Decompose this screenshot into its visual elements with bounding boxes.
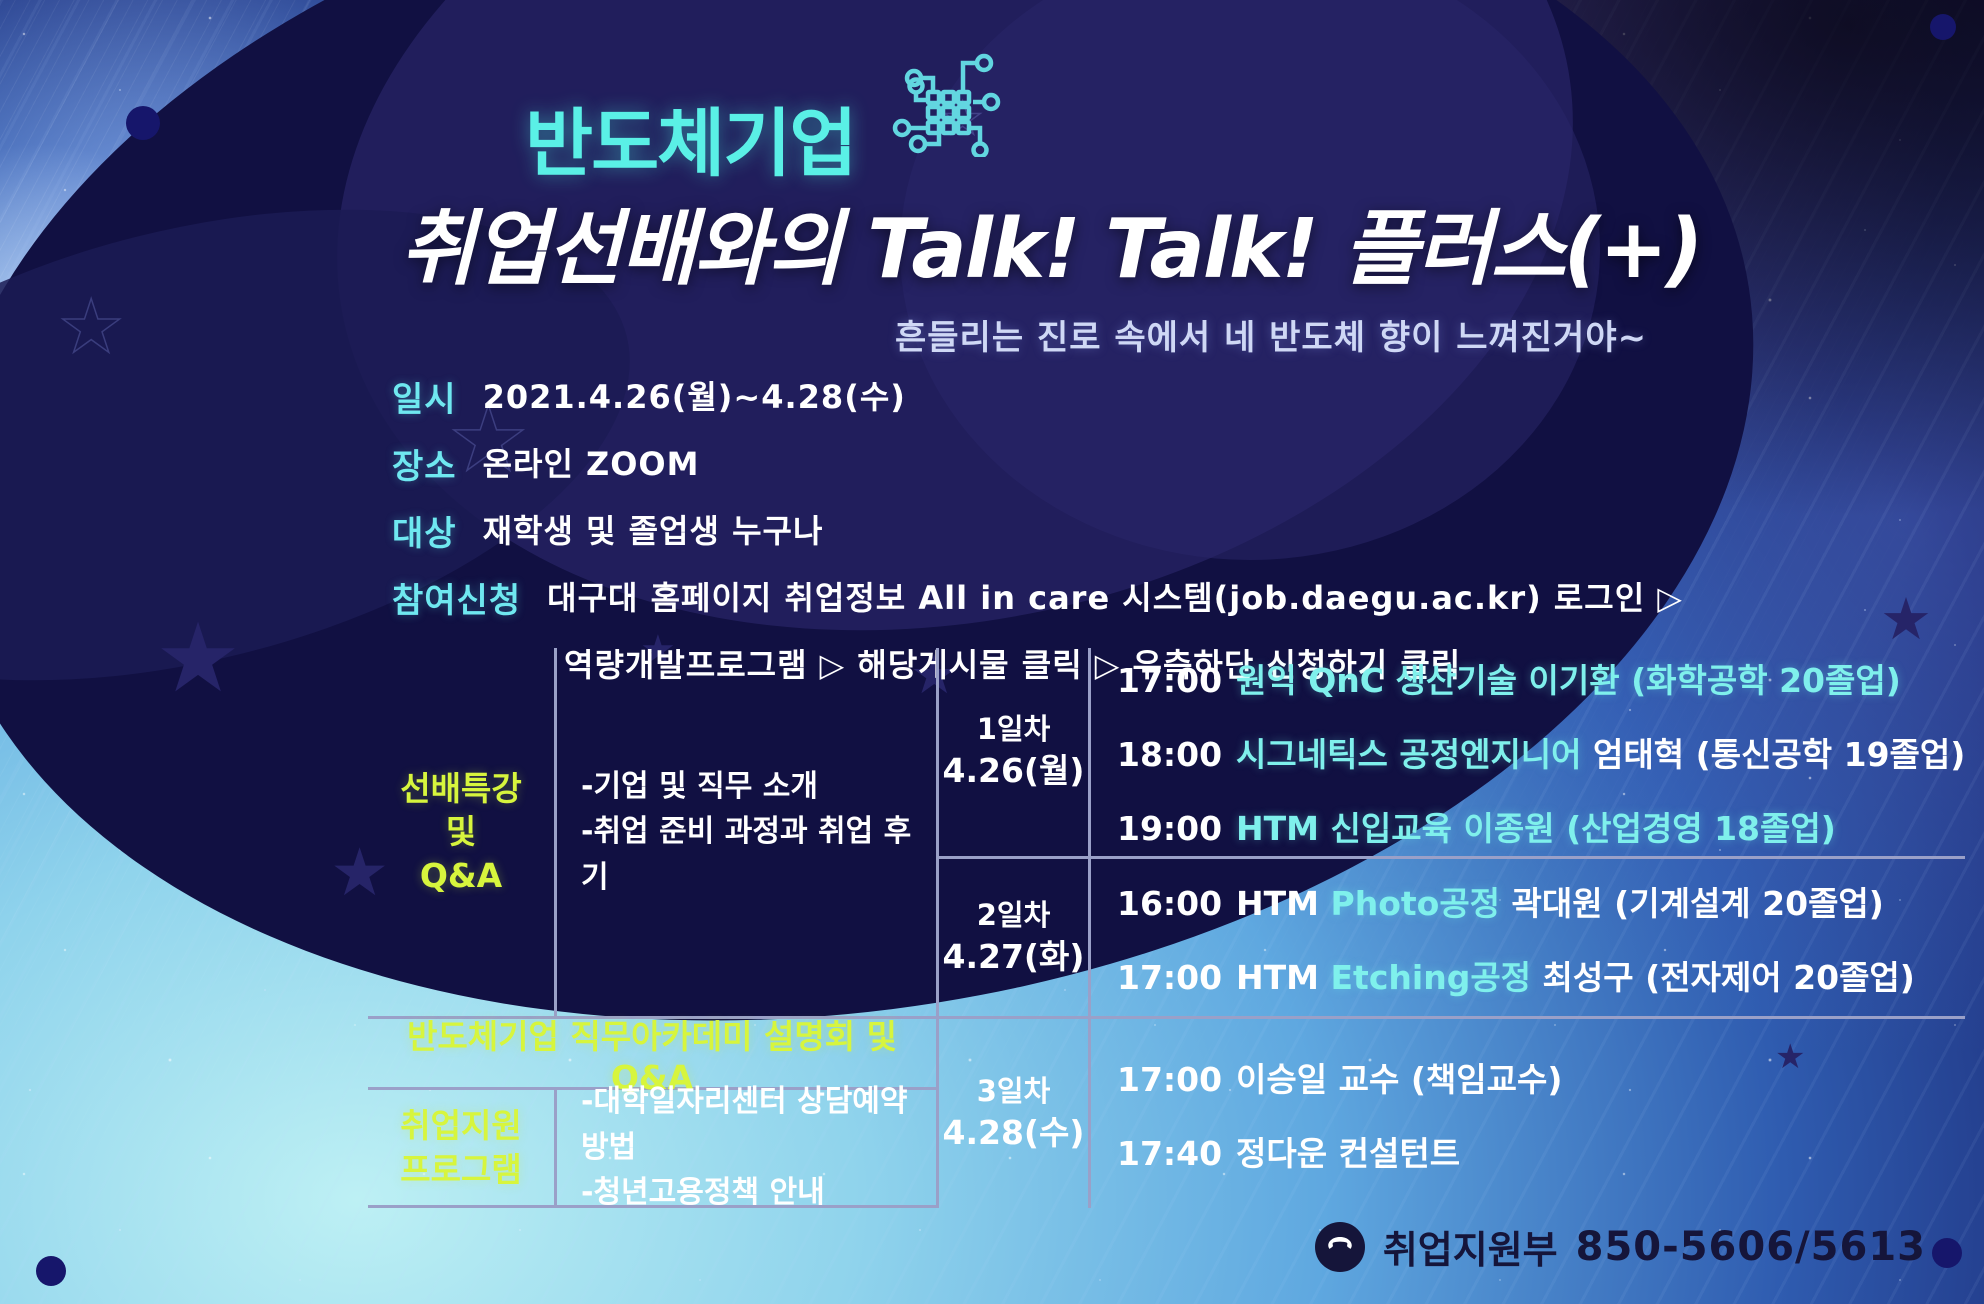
corner-dot: [36, 1256, 66, 1286]
description-line: -대학일자리센터 상담예약 방법: [581, 1079, 936, 1170]
day-number: 2일차: [977, 896, 1051, 935]
session-company: HTM: [1236, 809, 1319, 848]
day-date: 4.28(수): [943, 1111, 1085, 1155]
schedule-category-support: 취업지원 프로그램: [368, 1090, 554, 1208]
session-row: 19:00HTM 신입교육 이종원 (산업경영 18졸업): [1117, 802, 1965, 850]
session-row: 17:00원익 QnC 생산기술 이기환 (화학공학 20졸업): [1117, 654, 1965, 702]
session-company: HTM: [1236, 958, 1319, 997]
info-label: 참여신청: [392, 573, 521, 622]
corner-dot: [1930, 14, 1956, 40]
day-number: 3일차: [977, 1072, 1051, 1111]
phone-icon: [1315, 1222, 1365, 1272]
schedule-day-3: 3일차 4.28(수): [936, 1016, 1088, 1208]
session-time: 18:00: [1117, 735, 1222, 774]
session-time: 19:00: [1117, 809, 1222, 848]
info-label: 일시: [392, 372, 457, 421]
session-person: 이기환: [1528, 661, 1619, 700]
category-line: 선배특강: [400, 767, 521, 811]
schedule-sessions-day-2: 16:00HTM Photo공정 곽대원 (기계설계 20졸업) 17:00HT…: [1088, 856, 1965, 1016]
session-time: 17:00: [1117, 1060, 1222, 1099]
info-label: 장소: [392, 439, 457, 488]
session-role: 공정엔지니어: [1399, 735, 1581, 774]
session-major: (산업경영 18졸업): [1566, 809, 1836, 848]
category-line: 프로그램: [400, 1148, 521, 1192]
session-role: Photo공정: [1331, 884, 1501, 923]
contact-department: 취업지원부: [1383, 1219, 1558, 1274]
schedule-description-support: -대학일자리센터 상담예약 방법 -청년고용정책 안내: [554, 1090, 936, 1208]
info-value: 재학생 및 졸업생 누구나: [483, 506, 824, 552]
schedule-sessions-day-3: 17:00이승일 교수 (책임교수) 17:40정다운 컨설턴트: [1088, 1016, 1965, 1208]
schedule-description-lecture: -기업 및 직무 소개 -취업 준비 과정과 취업 후기: [554, 648, 936, 1016]
session-time: 17:40: [1117, 1134, 1222, 1173]
session-time: 17:00: [1117, 958, 1222, 997]
decorative-star: ★: [155, 610, 241, 706]
session-time: 17:00: [1117, 661, 1222, 700]
decorative-outline-star: ★: [58, 290, 124, 364]
decorative-star: ★: [1880, 590, 1932, 648]
corner-dot: [126, 106, 160, 140]
day-date: 4.26(월): [943, 749, 1085, 793]
page-tagline: 흔들리는 진로 속에서 네 반도체 향이 느껴진거야~: [895, 310, 1647, 359]
circuit-chip-icon: [885, 45, 1003, 161]
session-company: 원익 QnC: [1236, 661, 1384, 700]
schedule-day-2: 2일차 4.27(화): [936, 856, 1088, 1016]
info-row-apply: 참여신청 대구대 홈페이지 취업정보 All in care 시스템(job.d…: [392, 573, 1683, 622]
day-date: 4.27(화): [943, 935, 1085, 979]
info-value: 온라인 ZOOM: [483, 439, 700, 485]
poster-canvas: ★ ★ ★ ★ ★ ★ ★ ★ ★ 반도체기업: [0, 0, 1984, 1304]
session-person: 엄태혁: [1593, 735, 1684, 774]
session-person: 최성구: [1543, 958, 1634, 997]
event-info-block: 일시 2021.4.26(월)~4.28(수) 장소 온라인 ZOOM 대상 재…: [392, 372, 1683, 686]
session-major: (기계설계 20졸업): [1614, 884, 1884, 923]
session-person: 곽대원: [1512, 884, 1603, 923]
session-major: (책임교수): [1411, 1060, 1563, 1099]
schedule-day-1: 1일차 4.26(월): [936, 648, 1088, 856]
description-line: -기업 및 직무 소개: [581, 764, 936, 810]
corner-dot: [1932, 1238, 1962, 1268]
page-title-kicker: 반도체기업: [525, 84, 855, 191]
session-major: (전자제어 20졸업): [1645, 958, 1915, 997]
day-number: 1일차: [977, 710, 1051, 749]
session-person: 이승일 교수: [1236, 1060, 1399, 1099]
category-line: Q&A: [420, 854, 502, 898]
info-value: 대구대 홈페이지 취업정보 All in care 시스템(job.daegu.…: [547, 573, 1683, 619]
session-major: (화학공학 20졸업): [1631, 661, 1901, 700]
session-role: 생산기술: [1396, 661, 1517, 700]
schedule-sessions-day-1: 17:00원익 QnC 생산기술 이기환 (화학공학 20졸업) 18:00시그…: [1088, 648, 1965, 856]
page-title-main: 취업선배와의 Talk! Talk! 플러스(+): [400, 182, 1701, 301]
session-company: HTM: [1236, 884, 1319, 923]
info-value: 2021.4.26(월)~4.28(수): [483, 372, 906, 418]
info-row-place: 장소 온라인 ZOOM: [392, 439, 1683, 488]
category-line: 취업지원: [400, 1104, 521, 1148]
contact-footer: 취업지원부 850-5606/5613: [1315, 1219, 1926, 1274]
session-role: 신입교육: [1331, 809, 1452, 848]
info-label: 대상: [392, 506, 457, 555]
description-line: -청년고용정책 안내: [581, 1170, 936, 1216]
session-time: 16:00: [1117, 884, 1222, 923]
session-person: 이종원: [1463, 809, 1554, 848]
session-company: 시그네틱스: [1236, 735, 1388, 774]
description-line: -취업 준비 과정과 취업 후기: [581, 809, 936, 900]
session-row: 16:00HTM Photo공정 곽대원 (기계설계 20졸업): [1117, 877, 1965, 925]
info-row-audience: 대상 재학생 및 졸업생 누구나: [392, 506, 1683, 555]
schedule-table: 선배특강 및 Q&A -기업 및 직무 소개 -취업 준비 과정과 취업 후기 …: [368, 648, 1776, 1168]
session-row: 18:00시그네틱스 공정엔지니어 엄태혁 (통신공학 19졸업): [1117, 728, 1965, 776]
schedule-category-lecture: 선배특강 및 Q&A: [368, 648, 554, 1016]
session-major: (통신공학 19졸업): [1696, 735, 1966, 774]
session-row: 17:40정다운 컨설턴트: [1117, 1127, 1965, 1175]
info-row-date: 일시 2021.4.26(월)~4.28(수): [392, 372, 1683, 421]
session-person: 정다운 컨설턴트: [1236, 1134, 1460, 1173]
session-role: Etching공정: [1331, 958, 1532, 997]
contact-phone: 850-5606/5613: [1576, 1224, 1926, 1270]
category-line: 및: [446, 810, 476, 854]
session-row: 17:00HTM Etching공정 최성구 (전자제어 20졸업): [1117, 951, 1965, 999]
session-row: 17:00이승일 교수 (책임교수): [1117, 1053, 1965, 1101]
